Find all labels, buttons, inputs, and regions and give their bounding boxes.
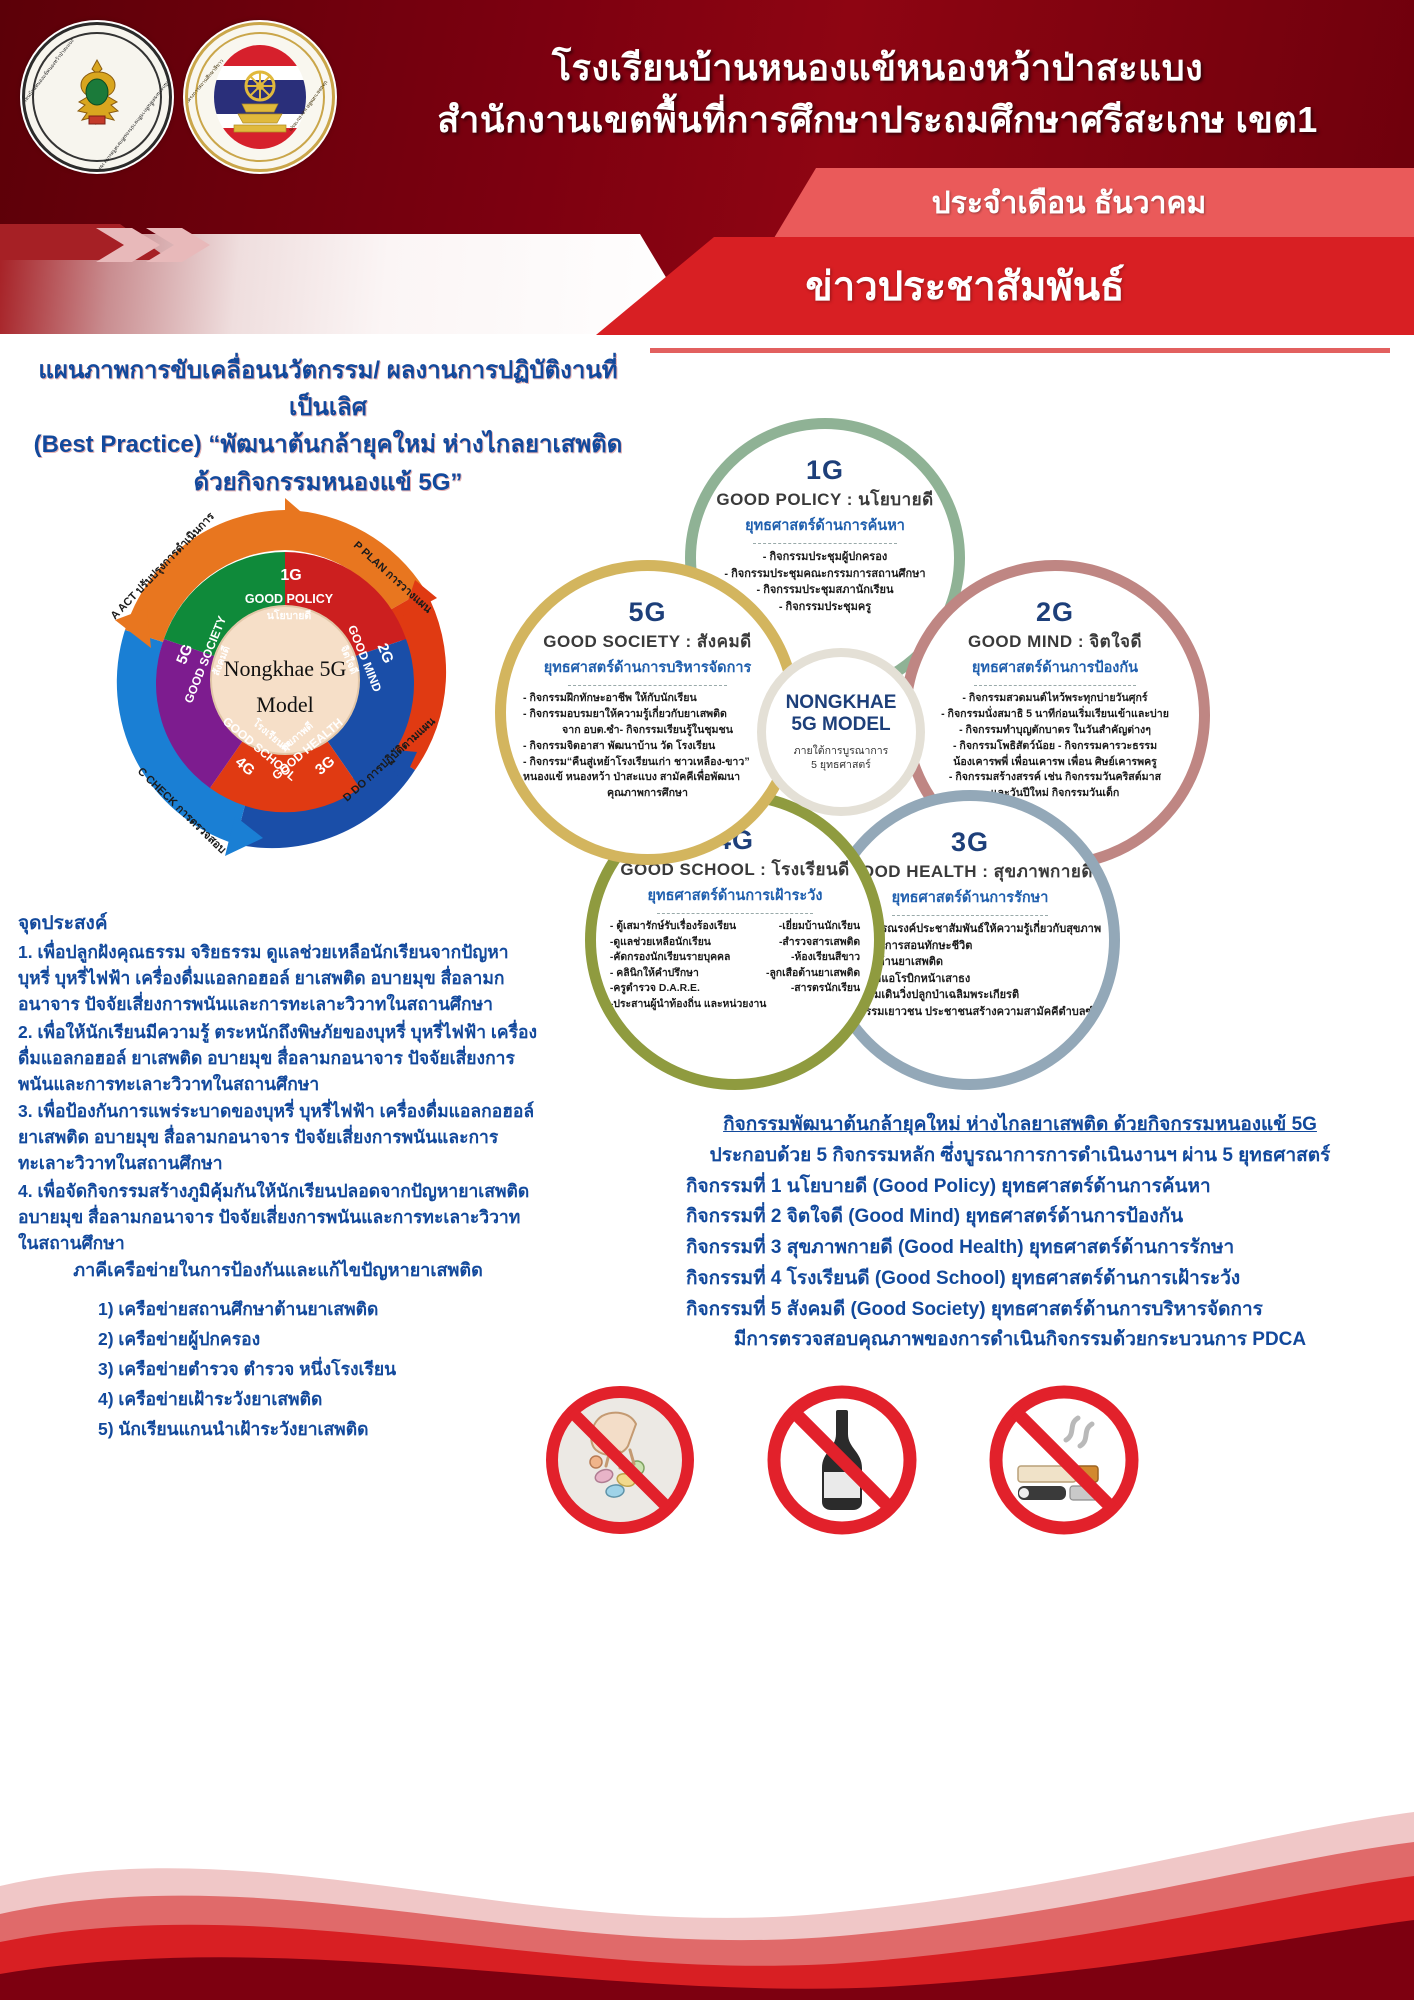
list-item: - กิจกรรมประชุมคณะกรรมการสถานศึกษา [724, 566, 925, 583]
petal-2g-activity-list: - กิจกรรมสวดมนต์ไหว้พระทุกบ่ายวันศุกร์ -… [941, 691, 1169, 802]
summary-line-1: กิจกรรมพัฒนาต้นกล้ายุคใหม่ ห่างไกลยาเสพต… [640, 1110, 1400, 1141]
col-left: - คลินิกให้คำปรึกษา [610, 966, 699, 982]
list-item: คุณภาพการศึกษา [523, 786, 772, 802]
col-right: -เยี่ยมบ้านนักเรียน [779, 919, 860, 935]
header-divider-rule [650, 348, 1390, 353]
nongkhae-5g-wheel-diagram: 1G GOOD POLICY นโยบายดี 2G GOOD MIND จิต… [85, 480, 485, 880]
petal-5g-number: 5G [628, 597, 666, 628]
no-drugs-icon [540, 1380, 700, 1540]
petal-5g-good-society: 5G GOOD SOCIETY : สังคมดี ยุทธศาสตร์ด้าน… [495, 560, 800, 865]
list-item: -กิจกรรมเดินวิ่งปลูกป่าเฉลิมพระเกียรติ [839, 987, 1101, 1004]
hub-sub-line2: 5 ยุทธศาสตร์ [811, 758, 871, 772]
petal-2g-title-en: GOOD MIND : จิตใจดี [968, 628, 1142, 655]
list-item: -ครูตำรวจ D.A.R.E. -สารตรนักเรียน [610, 981, 860, 997]
petal-4g-activity-list: - ตู้เสมารักษ์รับเรื่องร้องเรียน -เยี่ยม… [610, 919, 860, 1013]
list-item: -คัดกรองนักเรียนรายบุคคล -ห้องเรียนสีขาว [610, 950, 860, 966]
list-item: -ดูแลช่วยเหลือนักเรียน -สำรวจสารเสพติด [610, 935, 860, 951]
model-hub: NONGKHAE 5G MODEL ภายใต้การบูรณาการ 5 ยุ… [757, 648, 925, 816]
petal-1g-title-en: GOOD POLICY : นโยบายดี [716, 486, 933, 513]
petal-4g-divider [657, 913, 813, 914]
petal-3g-number: 3G [951, 827, 989, 858]
petal-4g-strategy: ยุทธศาสตร์ด้านการเฝ้าระวัง [648, 884, 823, 907]
petal-5g-activity-list: - กิจกรรมฝึกทักษะอาชีพ ให้กับนักเรียน - … [523, 691, 772, 802]
white-school-project-emblem: โครงการสถานศึกษาสีขาว ปลอดยาเสพติด และอบ… [185, 22, 335, 172]
col-left: -ดูแลช่วยเหลือนักเรียน [610, 935, 711, 951]
petal-3g-title-en: GOOD HEALTH : สุขภาพกายดี [847, 858, 1093, 885]
network-item: 2) เครือข่ายผู้ปกครอง [98, 1324, 538, 1354]
summary-activity-item: กิจกรรมที่ 2 จิตใจดี (Good Mind) ยุทธศาส… [640, 1202, 1400, 1233]
petal-5g-strategy: ยุทธศาสตร์ด้านการบริหารจัดการ [544, 656, 752, 679]
no-alcohol-icon [762, 1380, 922, 1540]
list-item: - ตู้เสมารักษ์รับเรื่องร้องเรียน -เยี่ยม… [610, 919, 860, 935]
hub-title-line1: NONGKHAE [786, 692, 897, 714]
no-smoking-icon [984, 1380, 1144, 1540]
svg-text:Model: Model [256, 692, 313, 717]
hub-title-line2: 5G MODEL [791, 714, 890, 736]
svg-text:Nongkhae 5G: Nongkhae 5G [224, 656, 347, 681]
objective-item: 2. เพื่อให้นักเรียนมีความรู้ ตระหนักถึงพ… [18, 1020, 538, 1098]
summary-activity-item: กิจกรรมที่ 3 สุขภาพกายดี (Good Health) ย… [640, 1233, 1400, 1264]
petal-1g-divider [753, 543, 897, 544]
col-right: -ห้องเรียนสีขาว [791, 950, 860, 966]
network-item: 3) เครือข่ายตำรวจ ตำรวจ หนึ่งโรงเรียน [98, 1354, 538, 1384]
summary-activity-item: กิจกรรมที่ 1 นโยบายดี (Good Policy) ยุทธ… [640, 1172, 1400, 1203]
petal-2g-divider [974, 685, 1135, 686]
col-right: -ลูกเสือต้านยาเสพติด [766, 966, 860, 982]
petal-1g-number: 1G [806, 455, 844, 486]
col-right: -สารตรนักเรียน [791, 981, 860, 997]
summary-activity-item: กิจกรรมที่ 5 สังคมดี (Good Society) ยุทธ… [640, 1295, 1400, 1326]
page-title: โรงเรียนบ้านหนองแข้หนองหว้าป่าสะแบง สำนั… [360, 42, 1395, 146]
list-item: - กิจกรรมประชุมสภานักเรียน [724, 582, 925, 599]
list-item: - กิจกรรมฝึกทักษะอาชีพ ให้กับนักเรียน [523, 691, 772, 707]
objectives-section: จุดประสงค์ 1. เพื่อปลูกฝังคุณธรรม จริยธร… [18, 910, 538, 1259]
school-name-line1: โรงเรียนบ้านหนองแข้หนองหว้าป่าสะแบง [360, 42, 1395, 94]
list-item: - กิจกรรม“คืนสู่เหย้าโรงเรียนเก่า ชาวเหล… [523, 755, 772, 771]
objective-item: 1. เพื่อปลูกฝังคุณธรรม จริยธรรม ดูแลช่วย… [18, 940, 538, 1018]
summary-activity-item: กิจกรรมที่ 4 โรงเรียนดี (Good School) ยุ… [640, 1264, 1400, 1295]
hub-sub-line1: ภายใต้การบูรณาการ [794, 744, 889, 758]
petal-2g-strategy: ยุทธศาสตร์ด้านการป้องกัน [972, 656, 1138, 679]
summary-line-2: ประกอบด้วย 5 กิจกรรมหลัก ซึ่งบูรณาการการ… [640, 1141, 1400, 1172]
news-banner: ข่าวประชาสัมพันธ์ [596, 237, 1414, 335]
bp-line-2: (Best Practice) “พัฒนาต้นกล้ายุคใหม่ ห่า… [28, 426, 628, 463]
list-item: - กิจกรรมอบรมยาให้ความรู้เกี่ยวกับยาเสพต… [523, 707, 772, 723]
network-item: 5) นักเรียนแกนนำเฝ้าระวังยาเสพติด [98, 1414, 538, 1444]
petal-3g-strategy: ยุทธศาสตร์ด้านการรักษา [892, 886, 1049, 909]
objectives-heading: จุดประสงค์ [18, 910, 538, 938]
list-item: จาก อบต.ซำ- กิจกรรมเรียนรู้ในชุมชน [523, 723, 772, 739]
list-item: - กิจกรรมทำบุญตักบาตร ในวันสำคัญต่างๆ [941, 723, 1169, 739]
networks-section: ภาคีเครือข่ายในการป้องกันและแก้ไขปัญหายา… [18, 1255, 538, 1444]
best-practice-title: แผนภาพการขับเคลื่อนนวัตกรรม/ ผลงานการปฏิ… [28, 352, 628, 501]
petal-3g-divider [892, 915, 1048, 916]
network-item: 4) เครือข่ายเฝ้าระวังยาเสพติด [98, 1384, 538, 1414]
col-left: -คัดกรองนักเรียนรายบุคคล [610, 950, 730, 966]
petal-1g-strategy: ยุทธศาสตร์ด้านการค้นหา [745, 514, 905, 537]
col-left: - ตู้เสมารักษ์รับเรื่องร้องเรียน [610, 919, 736, 935]
list-item: น้องเคารพพี่ เพื่อนเคารพ เพื่อน ศิษย์เคา… [941, 755, 1169, 771]
list-item: - คลินิกให้คำปรึกษา -ลูกเสือต้านยาเสพติด [610, 966, 860, 982]
month-ribbon: ประจำเดือน ธันวาคม [774, 168, 1414, 238]
activities-summary-section: กิจกรรมพัฒนาต้นกล้ายุคใหม่ ห่างไกลยาเสพต… [640, 1110, 1400, 1356]
petal-2g-number: 2G [1036, 597, 1074, 628]
svg-text:1G: 1G [280, 567, 301, 584]
bp-line-1: แผนภาพการขับเคลื่อนนวัตกรรม/ ผลงานการปฏิ… [28, 352, 628, 426]
prohibition-icons-row [540, 1380, 1140, 1560]
list-item: - กิจกรรมสวดมนต์ไหว้พระทุกบ่ายวันศุกร์ [941, 691, 1169, 707]
school-emblem: โรงเรียนบ้านหนองแข้หนองหว้าป่าสะแบง สำนั… [22, 22, 172, 172]
list-item: - กิจกรรมสร้างสรรค์ เช่น กิจกรรมวันคริสต… [941, 770, 1169, 786]
list-item: - กิจกรรมเยาวชน ประชาชนสร้างความสามัคคีต… [839, 1004, 1101, 1021]
petal-5g-divider [568, 685, 726, 686]
page-footer-decoration [0, 1790, 1414, 2000]
list-item: - กิจกรรมจิตอาสา พัฒนาบ้าน วัด โรงเรียน [523, 739, 772, 755]
networks-heading: ภาคีเครือข่ายในการป้องกันและแก้ไขปัญหายา… [18, 1255, 538, 1286]
list-item: - กิจกรรมโพธิสัตว์น้อย - กิจกรรมคารวะธรร… [941, 739, 1169, 755]
col-left: -ครูตำรวจ D.A.R.E. [610, 981, 700, 997]
objective-item: 4. เพื่อจัดกิจกรรมสร้างภูมิคุ้มกันให้นัก… [18, 1179, 538, 1257]
objective-item: 3. เพื่อป้องกันการแพร่ระบาดของบุหรี่ บุห… [18, 1099, 538, 1177]
petal-5g-title-en: GOOD SOCIETY : สังคมดี [543, 628, 751, 655]
svg-text:GOOD POLICY: GOOD POLICY [245, 592, 334, 606]
school-office-line2: สำนักงานเขตพื้นที่การศึกษาประถมศึกษาศรีส… [360, 94, 1395, 146]
list-item: -ประสานผู้นำท้องถิ่น และหน่วยงาน [610, 997, 860, 1013]
list-item: - กิจกรรมนั่งสมาธิ 5 นาทีก่อนเริ่มเรียนเ… [941, 707, 1169, 723]
list-item: หนองแข้ หนองหว้า ป่าสะแบง สามัคคีเพื่อพั… [523, 770, 772, 786]
network-item: 1) เครือข่ายสถานศึกษาต้านยาเสพติด [98, 1294, 538, 1324]
list-item: - กิจกรรมประชุมผู้ปกครอง [724, 549, 925, 566]
svg-text:นโยบายดี: นโยบายดี [267, 609, 312, 622]
col-right: -สำรวจสารเสพติด [779, 935, 860, 951]
summary-closing-line: มีการตรวจสอบคุณภาพของการดำเนินกิจกรรมด้ว… [640, 1325, 1400, 1356]
